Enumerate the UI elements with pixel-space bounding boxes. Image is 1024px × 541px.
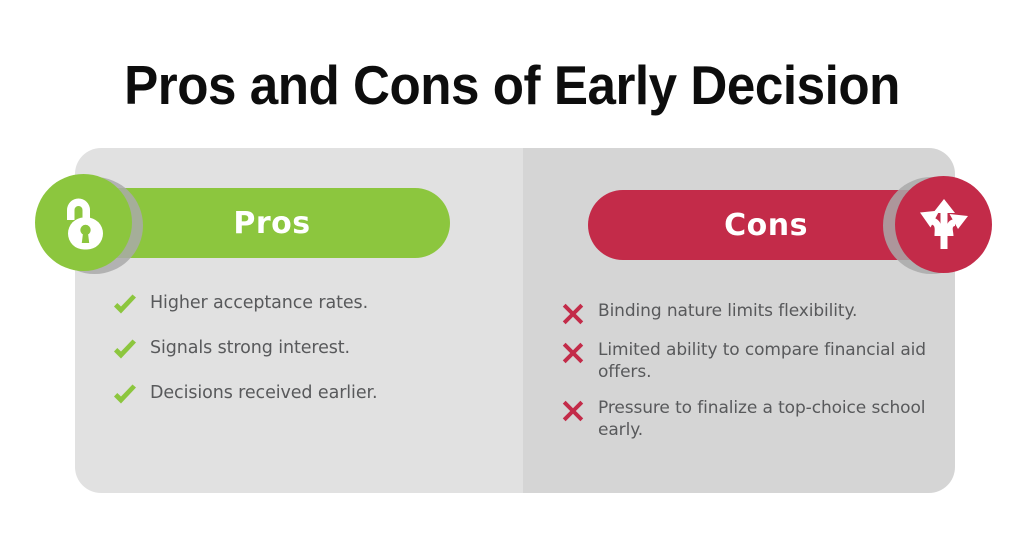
list-item-text: Binding nature limits flexibility. <box>598 300 857 322</box>
list-item: Higher acceptance rates. <box>112 292 452 319</box>
cons-heading-label: Cons <box>724 208 852 243</box>
list-item: Limited ability to compare financial aid… <box>562 339 932 383</box>
list-item-text: Signals strong interest. <box>150 337 350 360</box>
cross-icon <box>562 342 584 364</box>
three-way-arrows-icon <box>914 196 974 254</box>
list-item: Pressure to finalize a top-choice school… <box>562 397 932 441</box>
list-item: Decisions received earlier. <box>112 382 452 409</box>
pros-list: Higher acceptance rates. Signals strong … <box>112 292 452 427</box>
pros-badge <box>35 174 132 271</box>
cons-header: Cons <box>578 172 996 272</box>
cross-icon <box>562 400 584 422</box>
list-item: Signals strong interest. <box>112 337 452 364</box>
list-item: Binding nature limits flexibility. <box>562 300 932 325</box>
check-icon <box>112 383 138 409</box>
cons-badge <box>895 176 992 273</box>
page-title: Pros and Cons of Early Decision <box>36 52 988 118</box>
cons-list: Binding nature limits flexibility. Limit… <box>562 300 932 455</box>
list-item-text: Decisions received earlier. <box>150 382 377 405</box>
list-item-text: Pressure to finalize a top-choice school… <box>598 397 932 441</box>
infographic-canvas: Pros and Cons of Early Decision Pros <box>0 0 1024 541</box>
pros-header: Pros <box>30 172 450 272</box>
check-icon <box>112 293 138 319</box>
pros-heading-label: Pros <box>185 206 310 241</box>
open-padlock-icon <box>57 194 111 252</box>
cross-icon <box>562 303 584 325</box>
list-item-text: Limited ability to compare financial aid… <box>598 339 932 383</box>
list-item-text: Higher acceptance rates. <box>150 292 368 315</box>
check-icon <box>112 338 138 364</box>
